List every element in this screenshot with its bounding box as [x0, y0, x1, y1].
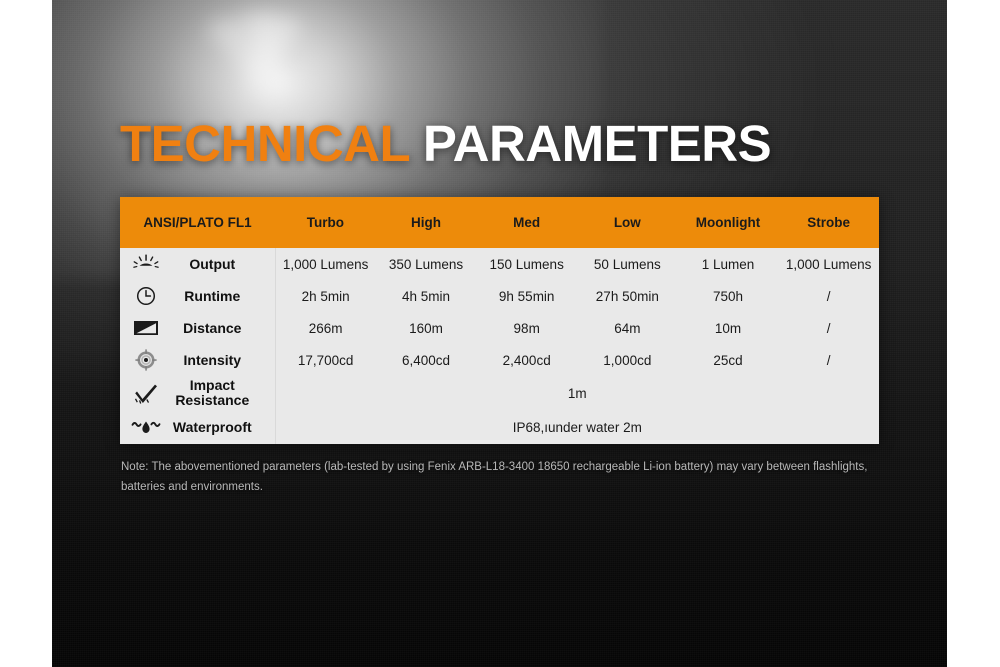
cell-waterproof-value: IP68,ıunder water 2m: [275, 410, 879, 444]
cell-impact-resistance-value: 1m: [275, 376, 879, 410]
column-header-low: Low: [577, 197, 678, 248]
row-header-impact-resistance: ImpactResistance: [120, 376, 275, 410]
row-header-waterproof: Waterprooft: [120, 410, 275, 444]
column-header-high: High: [376, 197, 477, 248]
cell-intensity-turbo: 17,700cd: [275, 344, 376, 376]
cell-runtime-high: 4h 5min: [376, 280, 477, 312]
table-row: Runtime 2h 5min 4h 5min 9h 55min 27h 50m…: [120, 280, 879, 312]
column-header-med: Med: [476, 197, 577, 248]
clock-icon: [120, 286, 172, 306]
table-header: ANSI/PLATO FL1 Turbo High Med Low Moonli…: [120, 197, 879, 248]
row-header-intensity: Intensity: [120, 344, 275, 376]
row-label: Waterprooft: [172, 420, 267, 435]
row-label: ImpactResistance: [172, 378, 267, 407]
page-title-plain: PARAMETERS: [423, 115, 771, 172]
row-header-runtime: Runtime: [120, 280, 275, 312]
cell-intensity-strobe: /: [778, 344, 879, 376]
intensity-crosshair-icon: [120, 349, 172, 371]
cell-distance-moonlight: 10m: [678, 312, 779, 344]
column-header-strobe: Strobe: [778, 197, 879, 248]
cell-intensity-high: 6,400cd: [376, 344, 477, 376]
light-burst-icon: [120, 254, 172, 274]
page-title: TECHNICAL PARAMETERS: [120, 118, 771, 169]
cell-intensity-moonlight: 25cd: [678, 344, 779, 376]
cell-output-low: 50 Lumens: [577, 248, 678, 280]
cell-runtime-strobe: /: [778, 280, 879, 312]
cell-output-moonlight: 1 Lumen: [678, 248, 779, 280]
row-label: Output: [172, 257, 267, 272]
screenshot-root: TECHNICAL PARAMETERS ANSI/PLATO FL1 Turb…: [0, 0, 1000, 667]
row-label: Distance: [172, 321, 267, 336]
row-label: Intensity: [172, 353, 267, 368]
table-body: Output 1,000 Lumens 350 Lumens 150 Lumen…: [120, 248, 879, 444]
cell-runtime-med: 9h 55min: [476, 280, 577, 312]
column-header-turbo: Turbo: [275, 197, 376, 248]
waterproof-icon: [120, 417, 172, 437]
column-header-ansi-plato-fl1: ANSI/PLATO FL1: [120, 197, 275, 248]
table-row: ImpactResistance 1m: [120, 376, 879, 410]
row-header-output: Output: [120, 248, 275, 280]
cell-distance-strobe: /: [778, 312, 879, 344]
table-footnote: Note: The abovementioned parameters (lab…: [121, 458, 891, 498]
cell-distance-high: 160m: [376, 312, 477, 344]
row-header-distance: Distance: [120, 312, 275, 344]
cell-distance-med: 98m: [476, 312, 577, 344]
beam-distance-icon: [120, 319, 172, 337]
cell-output-med: 150 Lumens: [476, 248, 577, 280]
table-header-row: ANSI/PLATO FL1 Turbo High Med Low Moonli…: [120, 197, 879, 248]
cell-intensity-low: 1,000cd: [577, 344, 678, 376]
cell-runtime-moonlight: 750h: [678, 280, 779, 312]
technical-parameters-table: ANSI/PLATO FL1 Turbo High Med Low Moonli…: [120, 197, 879, 444]
table-row: Distance 266m 160m 98m 64m 10m /: [120, 312, 879, 344]
cell-distance-turbo: 266m: [275, 312, 376, 344]
cell-output-strobe: 1,000 Lumens: [778, 248, 879, 280]
cell-intensity-med: 2,400cd: [476, 344, 577, 376]
table-row: Output 1,000 Lumens 350 Lumens 150 Lumen…: [120, 248, 879, 280]
column-header-moonlight: Moonlight: [678, 197, 779, 248]
product-spec-panel: TECHNICAL PARAMETERS ANSI/PLATO FL1 Turb…: [52, 0, 947, 667]
table-row: Waterprooft IP68,ıunder water 2m: [120, 410, 879, 444]
table-row: Intensity 17,700cd 6,400cd 2,400cd 1,000…: [120, 344, 879, 376]
impact-resistance-icon: [120, 382, 172, 404]
cell-runtime-turbo: 2h 5min: [275, 280, 376, 312]
row-label: Runtime: [172, 289, 267, 304]
page-title-accent: TECHNICAL: [120, 115, 409, 172]
cell-output-high: 350 Lumens: [376, 248, 477, 280]
cell-output-turbo: 1,000 Lumens: [275, 248, 376, 280]
cell-distance-low: 64m: [577, 312, 678, 344]
cell-runtime-low: 27h 50min: [577, 280, 678, 312]
